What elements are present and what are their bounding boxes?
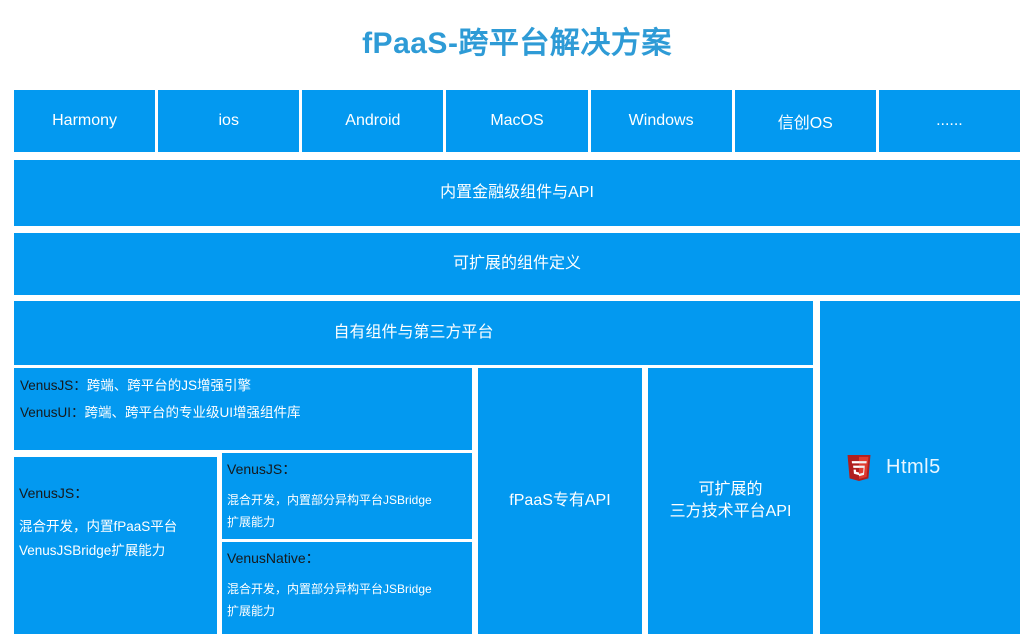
platform-label: ...... [936, 112, 963, 130]
venus-js-bridge-line1: 混合开发，内置部分异构平台JSBridge [227, 489, 467, 511]
venus-native-bridge-panel[interactable]: VenusNative： 混合开发，内置部分异构平台JSBridge 扩展能力 [222, 542, 472, 634]
venus-ui-label: VenusUI： [20, 405, 85, 420]
venus-js-label: VenusJS： [227, 459, 467, 479]
venus-ui-desc: 跨端、跨平台的专业级UI增强组件库 [85, 405, 301, 420]
column-label: fPaaS专有API [509, 490, 610, 512]
platform-label: 信创OS [778, 109, 833, 133]
band-builtin-financial-components-api[interactable]: 内置金融级组件与API [14, 160, 1020, 226]
platform-box-harmony[interactable]: Harmony [14, 90, 155, 152]
column-label-group: 可扩展的 三方技术平台API [670, 479, 792, 522]
platform-label: ios [218, 112, 238, 130]
platform-label: MacOS [490, 112, 543, 130]
platform-box-ios[interactable]: ios [158, 90, 299, 152]
venus-js-bridge-panel[interactable]: VenusJS： 混合开发，内置部分异构平台JSBridge 扩展能力 [222, 453, 472, 539]
venus-js-label: VenusJS： [20, 378, 87, 393]
band-label: 内置金融级组件与API [440, 182, 594, 204]
platform-box-xinchuang-os[interactable]: 信创OS [735, 90, 876, 152]
platform-label: Harmony [52, 112, 117, 130]
platform-box-macos[interactable]: MacOS [446, 90, 587, 152]
venus-js-engine-line: VenusJS：跨端、跨平台的JS增强引擎 [20, 377, 466, 395]
venus-native-label: VenusNative： [227, 548, 467, 568]
venus-js-desc: 跨端、跨平台的JS增强引擎 [87, 378, 251, 393]
platform-label: Windows [629, 112, 694, 130]
column-fpaas-proprietary-api[interactable]: fPaaS专有API [478, 368, 642, 634]
band-extensible-component-definition[interactable]: 可扩展的组件定义 [14, 233, 1020, 295]
venus-js-hybrid-line1: 混合开发，内置fPaaS平台 [19, 515, 212, 539]
venus-js-hybrid-panel[interactable]: VenusJS： 混合开发，内置fPaaS平台 VenusJSBridge扩展能… [14, 457, 217, 634]
venus-native-line1: 混合开发，内置部分异构平台JSBridge [227, 578, 467, 600]
venus-ui-line: VenusUI：跨端、跨平台的专业级UI增强组件库 [20, 404, 466, 422]
venus-js-hybrid-line2: VenusJSBridge扩展能力 [19, 539, 212, 563]
venus-js-label: VenusJS： [19, 483, 212, 503]
venus-js-bridge-line2: 扩展能力 [227, 511, 467, 533]
platform-label: Android [345, 112, 400, 130]
band-own-components-third-party-platform[interactable]: 自有组件与第三方平台 [14, 301, 813, 365]
platform-box-windows[interactable]: Windows [591, 90, 732, 152]
venus-native-line2: 扩展能力 [227, 600, 467, 622]
column-label-line1: 可扩展的 [670, 479, 792, 501]
column-label-line2: 三方技术平台API [670, 501, 792, 523]
page-title: fPaaS-跨平台解决方案 [0, 18, 1034, 62]
platform-box-more[interactable]: ...... [879, 90, 1020, 152]
column-third-party-platform-api[interactable]: 可扩展的 三方技术平台API [648, 368, 813, 634]
fpaas-architecture-diagram: fPaaS-跨平台解决方案 Harmony ios Android MacOS … [0, 0, 1034, 634]
html5-label: Html5 [886, 456, 941, 479]
venus-engine-panel[interactable]: VenusJS：跨端、跨平台的JS增强引擎 VenusUI：跨端、跨平台的专业级… [14, 368, 472, 450]
platform-box-android[interactable]: Android [302, 90, 443, 152]
band-label: 自有组件与第三方平台 [333, 322, 493, 344]
band-label: 可扩展的组件定义 [453, 253, 581, 275]
venus-column-group: VenusJS：跨端、跨平台的JS增强引擎 VenusUI：跨端、跨平台的专业级… [14, 368, 472, 634]
html5-shield-icon [846, 453, 872, 483]
panel-html5[interactable]: Html5 [820, 301, 1020, 634]
platform-row: Harmony ios Android MacOS Windows 信创OS .… [14, 90, 1020, 152]
